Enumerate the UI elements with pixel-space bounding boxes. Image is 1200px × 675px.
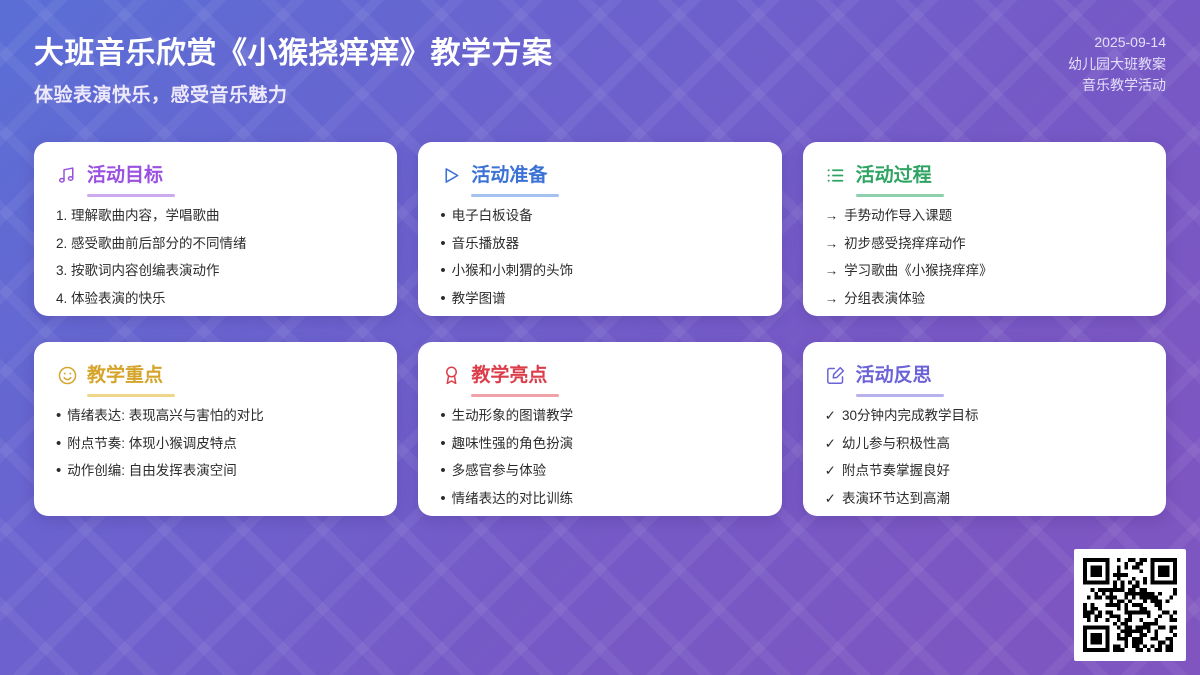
bullet-marker: • — [440, 289, 445, 310]
music-note-icon — [56, 164, 78, 186]
list-item: 1. 理解歌曲内容，学唱歌曲 — [56, 206, 375, 227]
card-title: 活动准备 — [471, 160, 547, 190]
arrow-marker: → — [825, 206, 839, 227]
card-teaching-highlights[interactable]: 教学亮点 •生动形象的图谱教学 •趣味性强的角色扮演 •多感官参与体验 •情绪表… — [418, 342, 781, 516]
list-item-text: 电子白板设备 — [452, 206, 533, 227]
title-underline — [856, 394, 944, 397]
list-item-text: 情绪表达: 表现高兴与害怕的对比 — [67, 406, 264, 427]
list-item-text: 初步感受挠痒痒动作 — [844, 234, 966, 255]
list-item-text: 附点节奏: 体现小猴调皮特点 — [67, 434, 237, 455]
play-triangle-icon — [440, 164, 462, 186]
bullet-marker: • — [56, 434, 61, 455]
list-item: •动作创编: 自由发挥表演空间 — [56, 461, 375, 482]
list-icon — [825, 164, 847, 186]
bullet-marker: • — [440, 434, 445, 455]
card-header: 活动准备 — [440, 160, 759, 190]
bullet-marker: • — [440, 489, 445, 510]
list-item: •趣味性强的角色扮演 — [440, 434, 759, 455]
meta-type: 音乐教学活动 — [1068, 75, 1166, 97]
list-item: →初步感受挠痒痒动作 — [825, 234, 1144, 255]
meta-date: 2025-09-14 — [1068, 32, 1166, 54]
bullet-marker: • — [440, 261, 445, 282]
list-item-text: 学习歌曲《小猴挠痒痒》 — [844, 261, 993, 282]
highlights-list: •生动形象的图谱教学 •趣味性强的角色扮演 •多感官参与体验 •情绪表达的对比训… — [440, 406, 759, 509]
title-underline — [856, 194, 944, 197]
list-item: •教学图谱 — [440, 289, 759, 310]
meta-category: 幼儿园大班教案 — [1068, 54, 1166, 76]
card-title: 活动过程 — [856, 160, 932, 190]
card-title: 活动目标 — [87, 160, 163, 190]
bullet-marker: • — [440, 461, 445, 482]
list-item-text: 生动形象的图谱教学 — [452, 406, 574, 427]
card-header: 活动反思 — [825, 360, 1144, 390]
card-title: 教学重点 — [87, 360, 163, 390]
list-item: •情绪表达的对比训练 — [440, 489, 759, 510]
list-item: →手势动作导入课题 — [825, 206, 1144, 227]
arrow-marker: → — [825, 234, 839, 255]
bullet-marker: • — [56, 406, 61, 427]
card-activity-process[interactable]: 活动过程 →手势动作导入课题 →初步感受挠痒痒动作 →学习歌曲《小猴挠痒痒》 →… — [803, 142, 1166, 316]
list-item-text: 小猴和小刺猬的头饰 — [452, 261, 574, 282]
card-header: 教学重点 — [56, 360, 375, 390]
list-item: 2. 感受歌曲前后部分的不同情绪 — [56, 234, 375, 255]
list-item-text: 多感官参与体验 — [452, 461, 547, 482]
list-item-text: 1. 理解歌曲内容，学唱歌曲 — [56, 206, 220, 227]
preparation-list: •电子白板设备 •音乐播放器 •小猴和小刺猬的头饰 •教学图谱 — [440, 206, 759, 309]
list-item-text: 附点节奏掌握良好 — [842, 461, 950, 482]
arrow-marker: → — [825, 289, 839, 310]
bullet-marker: • — [56, 461, 61, 482]
title-underline — [87, 394, 175, 397]
list-item: •电子白板设备 — [440, 206, 759, 227]
card-activity-goals[interactable]: 活动目标 1. 理解歌曲内容，学唱歌曲 2. 感受歌曲前后部分的不同情绪 3. … — [34, 142, 397, 316]
card-activity-preparation[interactable]: 活动准备 •电子白板设备 •音乐播放器 •小猴和小刺猬的头饰 •教学图谱 — [418, 142, 781, 316]
list-item-text: 教学图谱 — [452, 289, 506, 310]
page-header: 大班音乐欣赏《小猴挠痒痒》教学方案 体验表演快乐，感受音乐魅力 2025-09-… — [0, 0, 1200, 128]
list-item: →学习歌曲《小猴挠痒痒》 — [825, 261, 1144, 282]
page-title: 大班音乐欣赏《小猴挠痒痒》教学方案 — [34, 28, 553, 72]
list-item-text: 手势动作导入课题 — [844, 206, 952, 227]
qr-code-graphic — [1083, 558, 1177, 652]
list-item: ✓幼儿参与积极性高 — [825, 434, 1144, 455]
list-item: •情绪表达: 表现高兴与害怕的对比 — [56, 406, 375, 427]
card-title: 活动反思 — [856, 360, 932, 390]
focus-list: •情绪表达: 表现高兴与害怕的对比 •附点节奏: 体现小猴调皮特点 •动作创编:… — [56, 406, 375, 482]
list-item-text: 3. 按歌词内容创编表演动作 — [56, 261, 220, 282]
arrow-marker: → — [825, 261, 839, 282]
award-icon — [440, 364, 462, 386]
page-subtitle: 体验表演快乐，感受音乐魅力 — [34, 80, 288, 107]
goal-list: 1. 理解歌曲内容，学唱歌曲 2. 感受歌曲前后部分的不同情绪 3. 按歌词内容… — [56, 206, 375, 309]
list-item: ✓表演环节达到高潮 — [825, 489, 1144, 510]
list-item: •音乐播放器 — [440, 234, 759, 255]
card-header: 活动目标 — [56, 160, 375, 190]
list-item-text: 音乐播放器 — [452, 234, 520, 255]
card-activity-reflection[interactable]: 活动反思 ✓30分钟内完成教学目标 ✓幼儿参与积极性高 ✓附点节奏掌握良好 ✓表… — [803, 342, 1166, 516]
list-item: •多感官参与体验 — [440, 461, 759, 482]
edit-square-icon — [825, 364, 847, 386]
check-marker: ✓ — [825, 434, 836, 455]
list-item-text: 分组表演体验 — [844, 289, 925, 310]
list-item-text: 4. 体验表演的快乐 — [56, 289, 166, 310]
smiley-icon — [56, 364, 78, 386]
list-item: 3. 按歌词内容创编表演动作 — [56, 261, 375, 282]
bullet-marker: • — [440, 206, 445, 227]
bullet-marker: • — [440, 406, 445, 427]
header-meta: 2025-09-14 幼儿园大班教案 音乐教学活动 — [1068, 32, 1166, 97]
list-item-text: 情绪表达的对比训练 — [452, 489, 574, 510]
card-teaching-focus[interactable]: 教学重点 •情绪表达: 表现高兴与害怕的对比 •附点节奏: 体现小猴调皮特点 •… — [34, 342, 397, 516]
list-item: 4. 体验表演的快乐 — [56, 289, 375, 310]
list-item-text: 表演环节达到高潮 — [842, 489, 950, 510]
list-item-text: 幼儿参与积极性高 — [842, 434, 950, 455]
list-item: •附点节奏: 体现小猴调皮特点 — [56, 434, 375, 455]
title-underline — [87, 194, 175, 197]
check-marker: ✓ — [825, 461, 836, 482]
reflection-list: ✓30分钟内完成教学目标 ✓幼儿参与积极性高 ✓附点节奏掌握良好 ✓表演环节达到… — [825, 406, 1144, 509]
process-list: →手势动作导入课题 →初步感受挠痒痒动作 →学习歌曲《小猴挠痒痒》 →分组表演体… — [825, 206, 1144, 309]
list-item: →分组表演体验 — [825, 289, 1144, 310]
list-item-text: 30分钟内完成教学目标 — [842, 406, 979, 427]
card-header: 活动过程 — [825, 160, 1144, 190]
title-underline — [471, 194, 559, 197]
list-item: •小猴和小刺猬的头饰 — [440, 261, 759, 282]
card-header: 教学亮点 — [440, 360, 759, 390]
qr-code[interactable] — [1074, 549, 1186, 661]
list-item-text: 2. 感受歌曲前后部分的不同情绪 — [56, 234, 247, 255]
card-title: 教学亮点 — [471, 360, 547, 390]
check-marker: ✓ — [825, 406, 836, 427]
list-item: ✓附点节奏掌握良好 — [825, 461, 1144, 482]
list-item: •生动形象的图谱教学 — [440, 406, 759, 427]
list-item: ✓30分钟内完成教学目标 — [825, 406, 1144, 427]
check-marker: ✓ — [825, 489, 836, 510]
list-item-text: 趣味性强的角色扮演 — [452, 434, 574, 455]
list-item-text: 动作创编: 自由发挥表演空间 — [67, 461, 237, 482]
card-grid: 活动目标 1. 理解歌曲内容，学唱歌曲 2. 感受歌曲前后部分的不同情绪 3. … — [34, 142, 1166, 516]
bullet-marker: • — [440, 234, 445, 255]
title-underline — [471, 394, 559, 397]
